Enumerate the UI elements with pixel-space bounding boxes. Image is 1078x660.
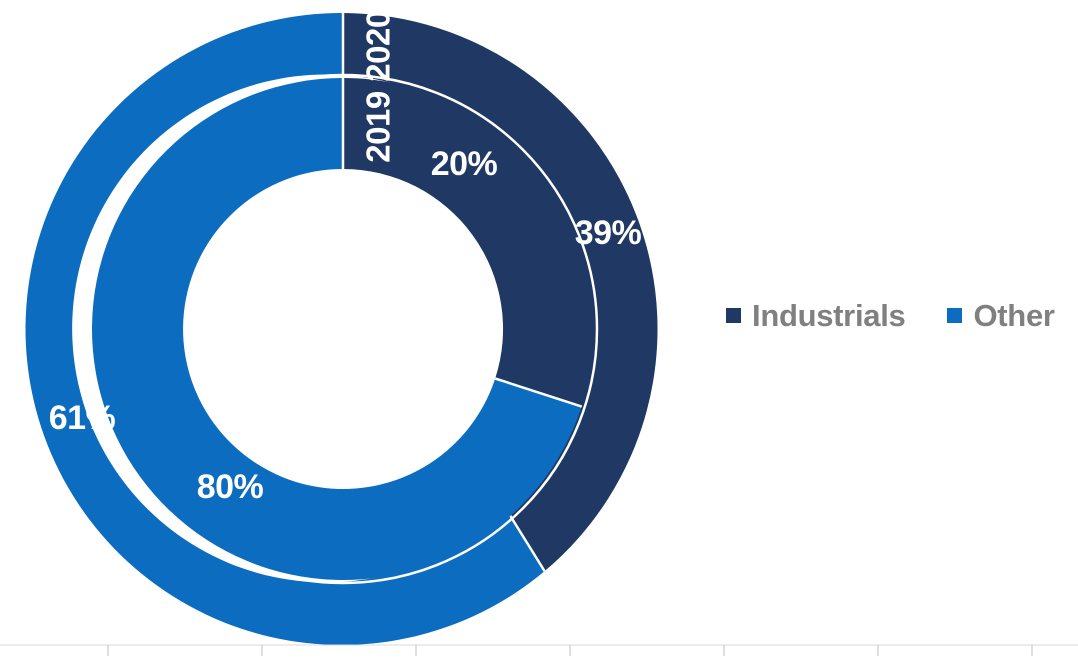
inner-label-other: 80% (197, 468, 264, 506)
inner-label-industrials: 20% (431, 145, 498, 183)
legend-label-other: Other (973, 300, 1054, 331)
bottom-axis (0, 645, 1078, 656)
inner-ring-2019 (92, 78, 594, 580)
legend-item-industrials[interactable]: Industrials (726, 300, 905, 331)
legend-swatch-industrials (726, 308, 741, 323)
outer-label-industrials: 39% (575, 214, 642, 252)
legend-swatch-other (947, 308, 962, 323)
outer-label-other: 61% (49, 399, 116, 437)
legend-label-industrials: Industrials (752, 300, 905, 331)
year-label-2020: 2020 (360, 10, 397, 81)
year-label-2019: 2019 (360, 91, 397, 163)
chart-legend: Industrials Other (726, 300, 1055, 331)
legend-item-other[interactable]: Other (947, 300, 1054, 331)
chart-canvas: 39% 61% 20% 80% 2020 2019 Industrials Ot… (0, 0, 1078, 660)
